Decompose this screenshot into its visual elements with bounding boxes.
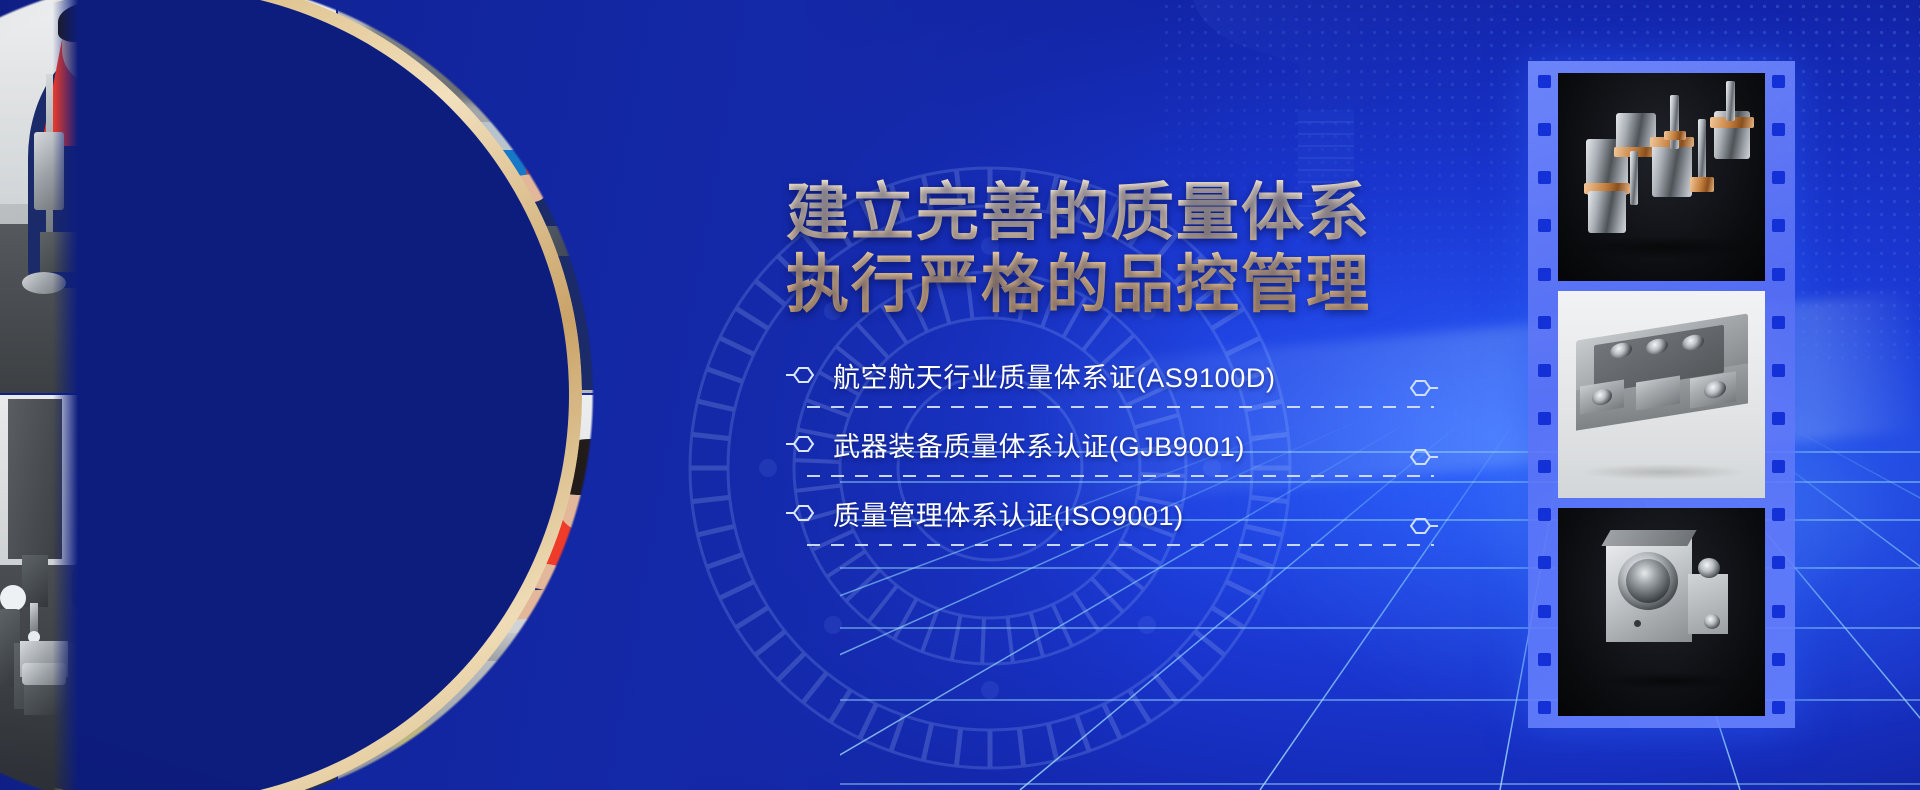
quality-system-banner: 建立完善的质量体系 执行严格的品控管理 航空航天行业质量体系证(AS9100D) [0, 0, 1920, 790]
vignette-overlay [0, 0, 1920, 790]
